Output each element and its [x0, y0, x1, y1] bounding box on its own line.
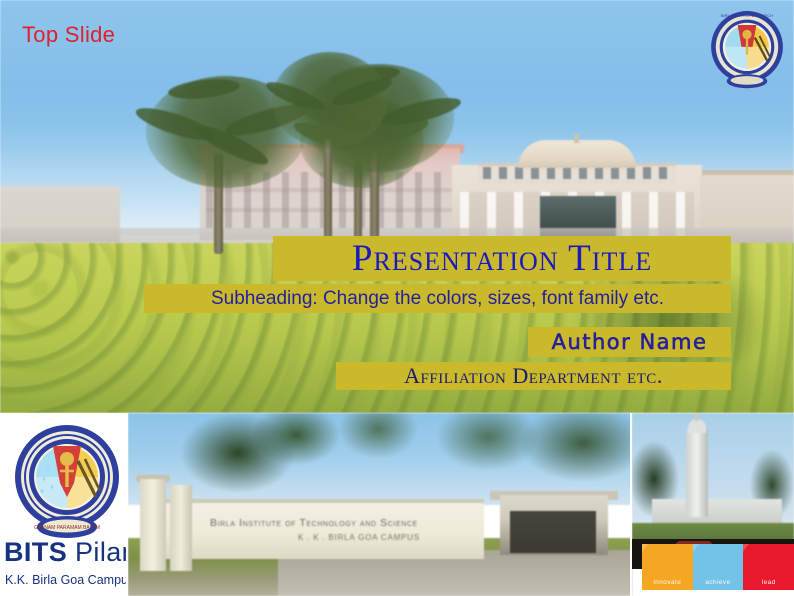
main-building-clerestory-windows — [483, 167, 671, 179]
bottom-image-strip: GYANAM PARAMAM BALAM BITS Pilani K.K. Bi… — [0, 413, 794, 596]
bits-crest-icon-large: GYANAM PARAMAM BALAM — [8, 419, 126, 547]
svg-text:BIRLA INSTITUTE OF TECH: BIRLA INSTITUTE OF TECH — [721, 13, 773, 18]
building-dome — [518, 140, 636, 168]
clock-tower — [686, 429, 708, 517]
panel-divider — [126, 413, 128, 596]
gate-signage-wall — [164, 499, 484, 559]
bits-wordmark: BITS Pilani — [4, 537, 128, 568]
palm-tree — [270, 48, 390, 248]
tower-cupola — [688, 419, 706, 433]
gate-pillar — [140, 479, 166, 571]
dome-finial — [574, 134, 579, 143]
gate-shadowed-opening — [510, 511, 596, 553]
brand-segment-innovate: innovate — [642, 544, 693, 590]
tower-finial — [695, 413, 699, 421]
svg-text:GYANAM PARAMAM BALAM: GYANAM PARAMAM BALAM — [34, 525, 100, 531]
campus-gate-photo: Birla Institute of Technology and Scienc… — [128, 413, 632, 596]
author-name: Author Name — [528, 327, 731, 357]
presentation-title: Presentation Title — [273, 236, 731, 281]
bits-wordmark-bold: BITS — [4, 537, 67, 567]
gate-pillar-secondary — [170, 485, 192, 571]
clock-tower-photo: innovate achieve lead — [632, 413, 794, 596]
brand-segment-achieve: achieve — [693, 544, 744, 590]
top-slide-label: Top Slide — [22, 22, 115, 48]
panel-divider — [630, 413, 632, 596]
presentation-subheading: Subheading: Change the colors, sizes, fo… — [144, 284, 731, 313]
bits-crest-icon: BIRLA INSTITUTE OF TECH — [708, 6, 786, 94]
brand-segment-label: achieve — [693, 579, 744, 586]
gate-sign-primary-text: Birla Institute of Technology and Scienc… — [210, 517, 418, 529]
affiliation-department: Affiliation Department etc. — [336, 362, 731, 390]
bits-wordmark-light: Pilani — [67, 537, 128, 567]
brand-segment-lead: lead — [743, 544, 794, 590]
brand-segment-label: lead — [743, 579, 794, 586]
bits-campus-line: K.K. Birla Goa Campus — [5, 573, 128, 587]
presentation-title-slide: Top Slide BIRLA INSTITUTE OF TECH Presen… — [0, 0, 794, 596]
brand-segment-label: innovate — [642, 579, 693, 586]
bits-logo-panel: GYANAM PARAMAM BALAM BITS Pilani K.K. Bi… — [0, 413, 128, 596]
brand-tagline-band: innovate achieve lead — [642, 544, 794, 590]
gate-sign-secondary-text: K . K . BIRLA GOA CAMPUS — [298, 533, 420, 542]
